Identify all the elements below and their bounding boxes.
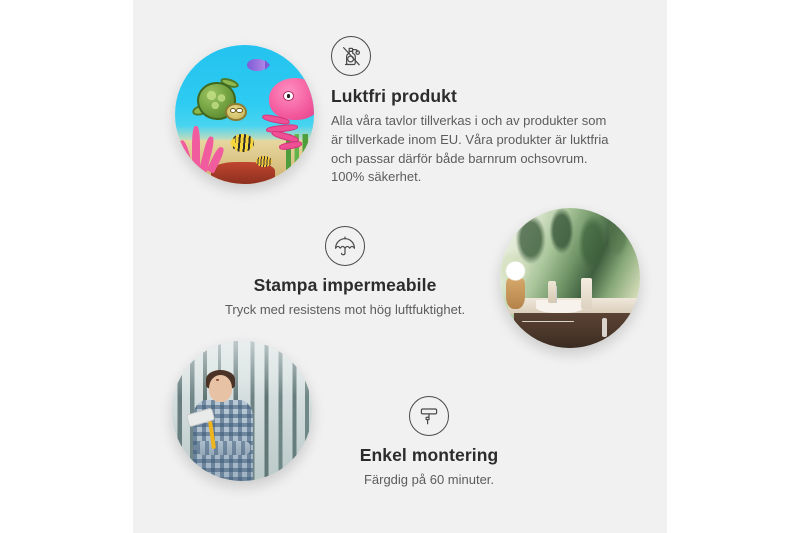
paint-roller-icon [409, 396, 449, 436]
soap-dispenser-icon [548, 281, 556, 303]
coral-icon [181, 126, 223, 173]
turtle-icon [192, 78, 256, 131]
feature-description: Färgdig på 60 minuter. [314, 471, 544, 490]
feature-title: Luktfri produkt [331, 86, 631, 108]
feature-description: Alla våra tavlor tillverkas i och av pro… [331, 112, 621, 187]
flowers-icon [500, 258, 531, 283]
ocean-scene-photo [175, 45, 314, 184]
feature-odourless: Luktfri produkt Alla våra tavlor tillver… [331, 36, 631, 187]
bathroom-vanity [514, 313, 640, 348]
feature-waterproof: Stampa impermeabile Tryck med resistens … [200, 226, 490, 320]
bathroom-scene-photo [500, 208, 640, 348]
bathroom-sink [536, 300, 584, 313]
feature-title: Stampa impermeabile [200, 275, 490, 297]
feature-title: Enkel montering [314, 445, 544, 467]
octopus-icon [258, 78, 314, 150]
bottle-icon [581, 278, 592, 309]
no-fragrance-icon [331, 36, 371, 76]
feature-description: Tryck med resistens mot hög luftfuktighe… [200, 301, 490, 320]
feature-assembly: Enkel montering Färgdig på 60 minuter. [314, 396, 544, 490]
umbrella-icon [325, 226, 365, 266]
forest-scene-photo [172, 341, 312, 481]
yellow-fish-icon [231, 134, 255, 152]
purple-fish-icon [247, 59, 266, 72]
infographic-canvas: Luktfri produkt Alla våra tavlor tillver… [0, 0, 800, 533]
painter-person [192, 375, 270, 481]
